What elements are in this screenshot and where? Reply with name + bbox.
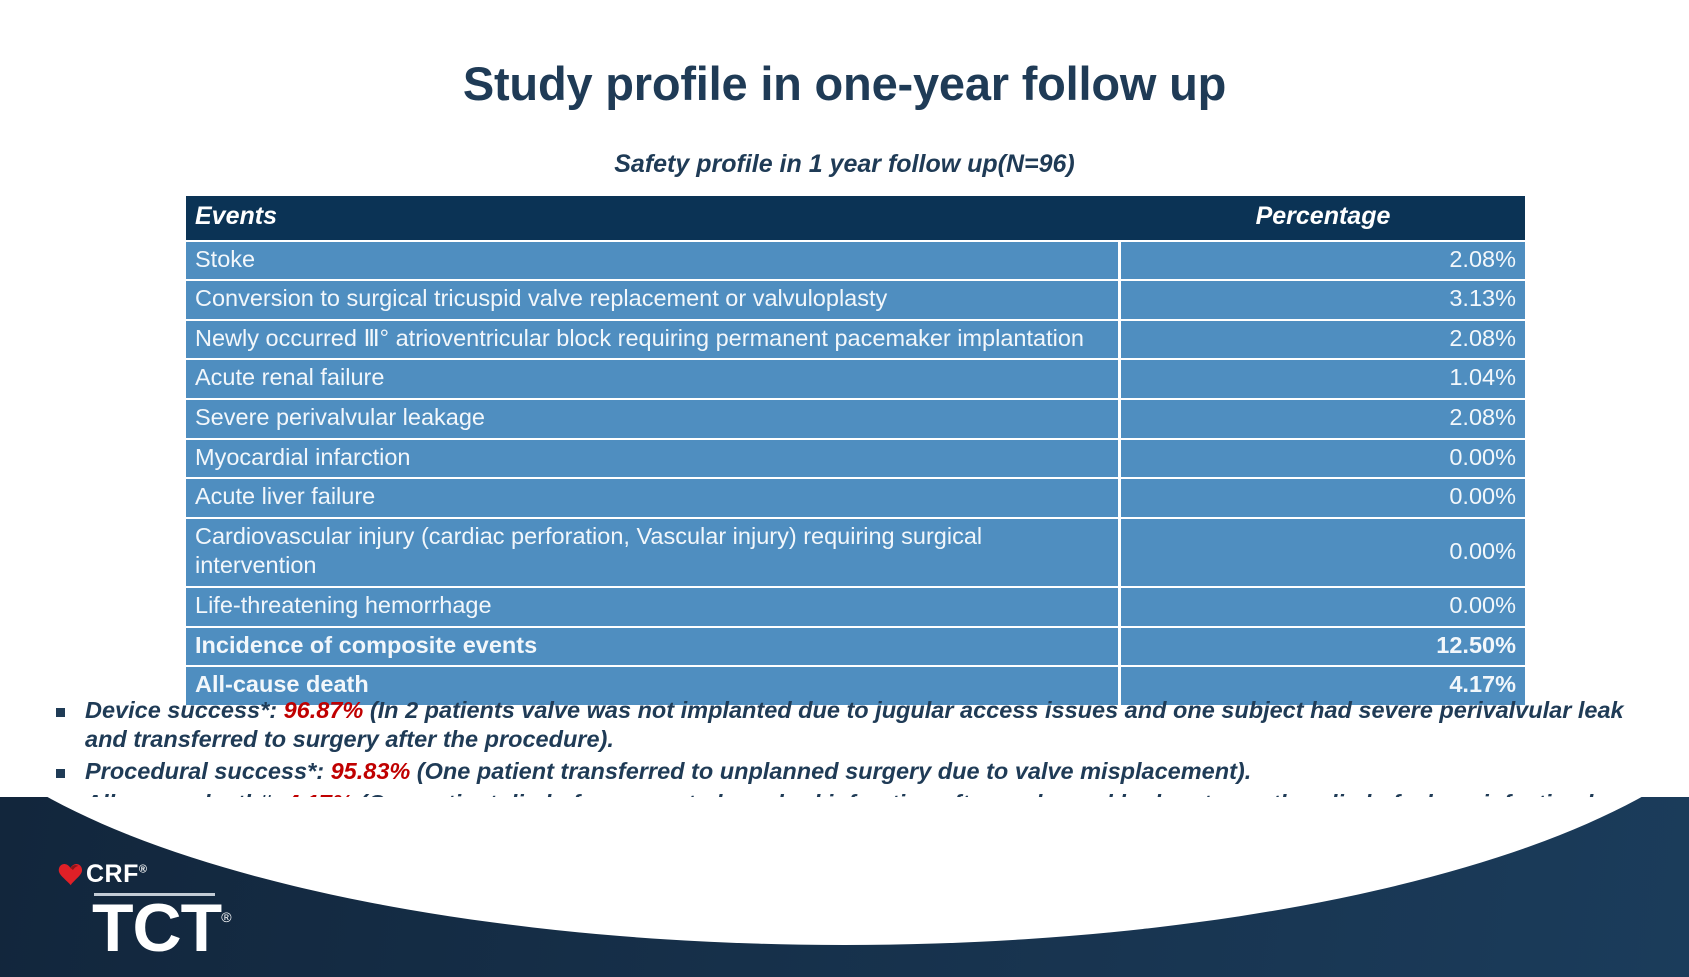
page-title: Study profile in one-year follow up	[0, 56, 1689, 111]
table-body: Stoke2.08%Conversion to surgical tricusp…	[186, 242, 1525, 707]
cell-event-percentage: 2.08%	[1121, 321, 1525, 361]
tct-registered-mark: ®	[221, 909, 231, 925]
cell-event-name: Acute liver failure	[186, 479, 1121, 519]
table-row: Severe perivalvular leakage2.08%	[186, 400, 1525, 440]
table-caption: Safety profile in 1 year follow up(N=96)	[0, 150, 1689, 179]
safety-profile-table: Events Percentage Stoke2.08%Conversion t…	[186, 196, 1525, 707]
footnote-text: Device success*: 96.87% (In 2 patients v…	[85, 696, 1666, 754]
bullet-square-icon	[56, 769, 65, 778]
footnote-label: Device success*:	[85, 697, 284, 723]
slide: Study profile in one-year follow up Safe…	[0, 0, 1689, 977]
cell-event-name: Stoke	[186, 242, 1121, 282]
crf-wordmark: CRF®	[86, 862, 148, 887]
table-row: Acute renal failure1.04%	[186, 360, 1525, 400]
cell-event-name: Incidence of composite events	[186, 628, 1121, 668]
table-row: Life-threatening hemorrhage0.00%	[186, 588, 1525, 628]
cell-event-percentage: 0.00%	[1121, 519, 1525, 588]
table-row: Newly occurred Ⅲ° atrioventricular block…	[186, 321, 1525, 361]
tct-lockup: TCT ®	[92, 899, 258, 957]
tct-wordmark: TCT	[92, 899, 221, 957]
cell-event-name: Cardiovascular injury (cardiac perforati…	[186, 519, 1121, 588]
crf-lockup: CRF®	[58, 860, 258, 890]
cell-event-percentage: 1.04%	[1121, 360, 1525, 400]
heart-icon	[58, 863, 83, 886]
table-row: Conversion to surgical tricuspid valve r…	[186, 281, 1525, 321]
column-header-percentage: Percentage	[1121, 196, 1525, 242]
footnote-item: Device success*: 96.87% (In 2 patients v…	[56, 696, 1666, 754]
cell-event-percentage: 2.08%	[1121, 400, 1525, 440]
bullet-square-icon	[56, 708, 65, 717]
cell-event-percentage: 3.13%	[1121, 281, 1525, 321]
cell-event-percentage: 2.08%	[1121, 242, 1525, 282]
cell-event-name: Conversion to surgical tricuspid valve r…	[186, 281, 1121, 321]
footnote-item: Procedural success*: 95.83% (One patient…	[56, 757, 1666, 786]
table-head: Events Percentage	[186, 196, 1525, 242]
cell-event-percentage: 0.00%	[1121, 479, 1525, 519]
cell-event-name: Newly occurred Ⅲ° atrioventricular block…	[186, 321, 1121, 361]
table-row: Stoke2.08%	[186, 242, 1525, 282]
footnote-value: 95.83%	[331, 758, 411, 784]
footnote-value: 96.87%	[284, 697, 364, 723]
cell-event-name: Myocardial infarction	[186, 440, 1121, 480]
cell-event-percentage: 0.00%	[1121, 588, 1525, 628]
footnote-label: Procedural success*:	[85, 758, 331, 784]
cell-event-percentage: 12.50%	[1121, 628, 1525, 668]
cell-event-name: Acute renal failure	[186, 360, 1121, 400]
footnote-text: Procedural success*: 95.83% (One patient…	[85, 757, 1666, 786]
crf-tct-logo: CRF® TCT ®	[58, 860, 258, 957]
cell-event-name: Life-threatening hemorrhage	[186, 588, 1121, 628]
footnote-detail: (One patient transferred to unplanned su…	[410, 758, 1251, 784]
table-row: Acute liver failure0.00%	[186, 479, 1525, 519]
slide-footer: CRF® TCT ®	[0, 797, 1689, 977]
table-header-row: Events Percentage	[186, 196, 1525, 242]
column-header-events: Events	[186, 196, 1121, 242]
cell-event-percentage: 0.00%	[1121, 440, 1525, 480]
cell-event-name: Severe perivalvular leakage	[186, 400, 1121, 440]
table-row: Myocardial infarction0.00%	[186, 440, 1525, 480]
table-row: Incidence of composite events12.50%	[186, 628, 1525, 668]
table-row: Cardiovascular injury (cardiac perforati…	[186, 519, 1525, 588]
